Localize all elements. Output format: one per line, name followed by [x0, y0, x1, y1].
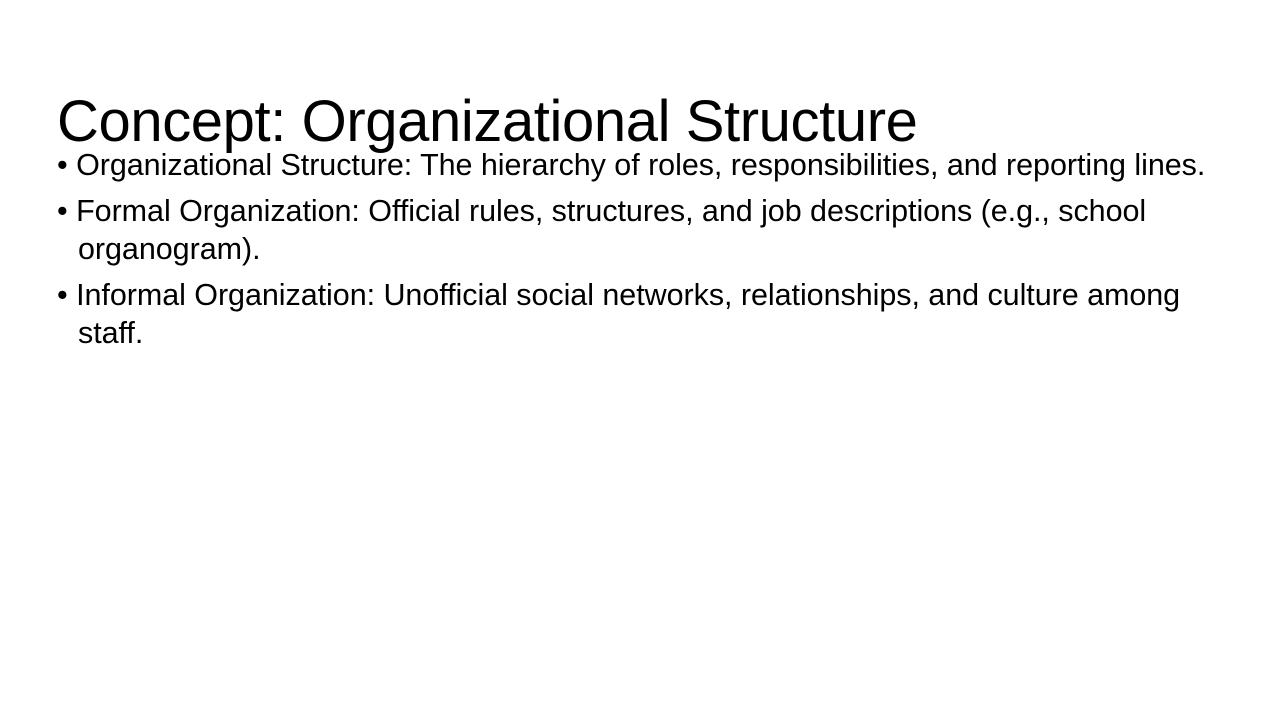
bullet-list: • Organizational Structure: The hierarch…: [57, 146, 1222, 352]
bullet-point-icon: •: [57, 194, 68, 228]
list-item: • Formal Organization: Official rules, s…: [57, 192, 1222, 268]
list-item-text: Organizational Structure: The hierarchy …: [76, 148, 1205, 182]
page-title: Concept: Organizational Structure: [57, 91, 1227, 154]
list-item-text: Informal Organization: Unofficial social…: [76, 278, 1180, 350]
bullet-point-icon: •: [57, 278, 68, 312]
bullet-point-icon: •: [57, 148, 68, 182]
list-item: • Informal Organization: Unofficial soci…: [57, 276, 1222, 352]
slide-canvas: Concept: Organizational Structure • Orga…: [0, 0, 1280, 720]
list-item-text: Formal Organization: Official rules, str…: [76, 194, 1146, 266]
list-item: • Organizational Structure: The hierarch…: [57, 146, 1222, 184]
